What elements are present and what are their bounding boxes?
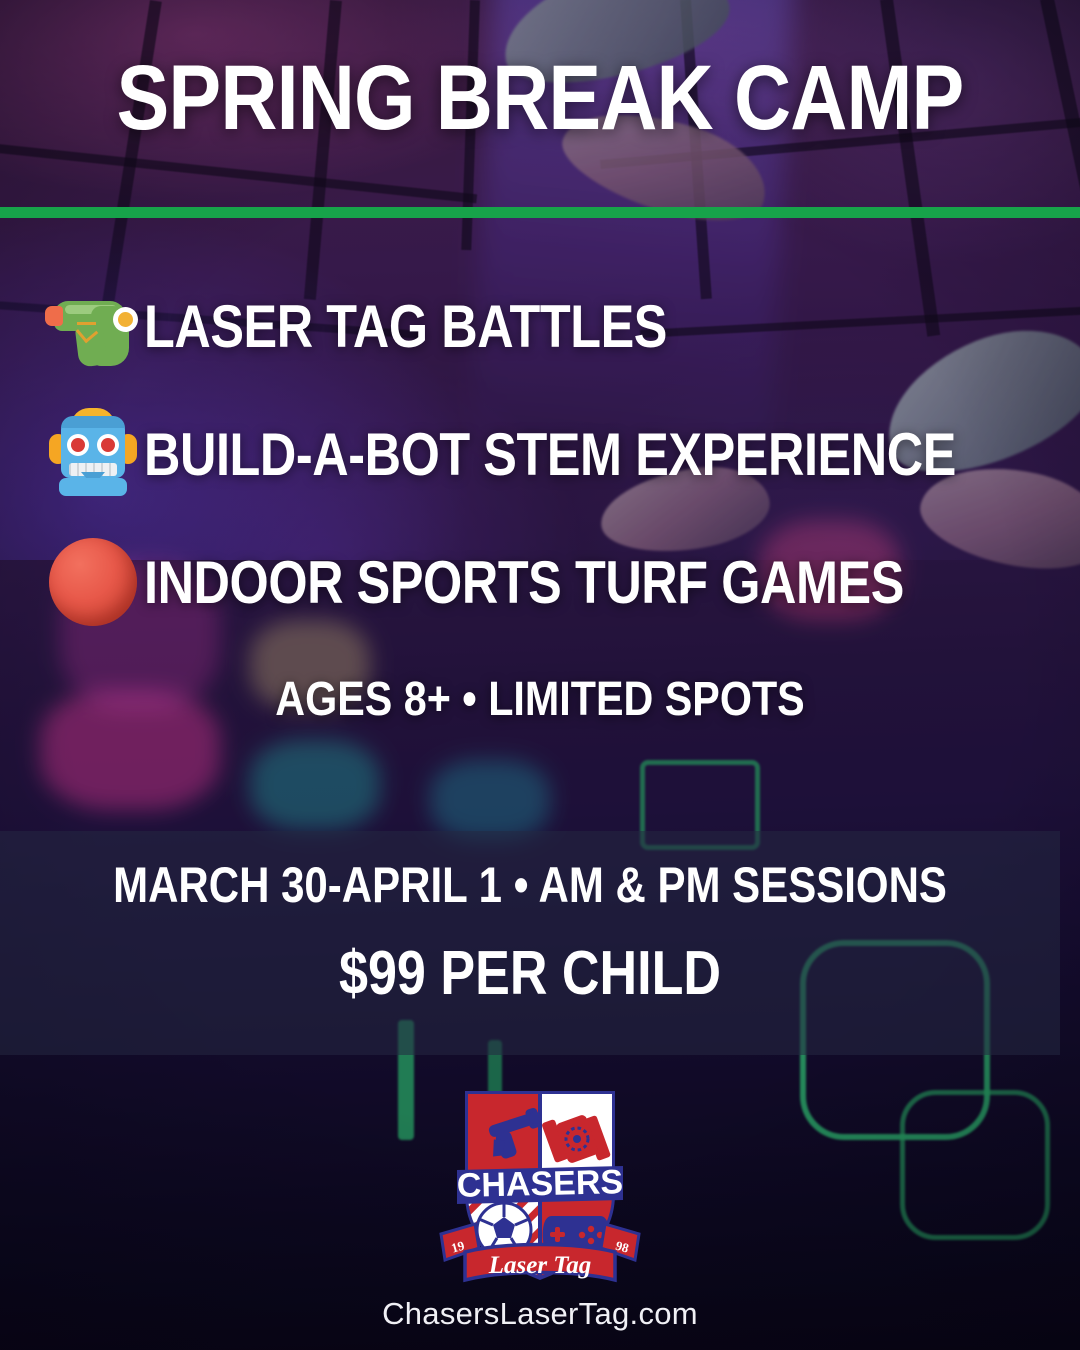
feature-list: LASER TAG BATTLES <box>0 262 1080 646</box>
water-pistol-icon <box>38 284 148 368</box>
list-item: LASER TAG BATTLES <box>0 262 1080 390</box>
chasers-laser-tag-logo: CHASERS 19 98 Laser Tag <box>435 1082 645 1287</box>
camp-dates: MARCH 30-APRIL 1 • AM & PM SESSIONS <box>85 856 975 914</box>
brand-banner: CHASERS <box>456 1163 623 1205</box>
red-ball-icon <box>38 538 148 626</box>
ages-note: AGES 8+ • LIMITED SPOTS <box>76 672 1005 727</box>
spring-break-camp-flyer: SPRING BREAK CAMP LASER TAG <box>0 0 1080 1350</box>
feature-label: LASER TAG BATTLES <box>144 292 667 361</box>
page-title: SPRING BREAK CAMP <box>76 52 1005 144</box>
logo-shield-svg: CHASERS 19 98 Laser Tag <box>435 1082 645 1287</box>
list-item: BUILD-A-BOT STEM EXPERIENCE <box>0 390 1080 518</box>
feature-label: INDOOR SPORTS TURF GAMES <box>144 548 904 617</box>
brand-name: CHASERS <box>456 1163 623 1205</box>
camp-price: $99 PER CHILD <box>85 938 975 1009</box>
robot-icon <box>38 408 148 500</box>
accent-divider <box>0 207 1080 218</box>
website-url: ChasersLaserTag.com <box>0 1296 1080 1332</box>
feature-label: BUILD-A-BOT STEM EXPERIENCE <box>144 420 956 489</box>
ribbon-label: Laser Tag <box>488 1252 592 1279</box>
list-item: INDOOR SPORTS TURF GAMES <box>0 518 1080 646</box>
